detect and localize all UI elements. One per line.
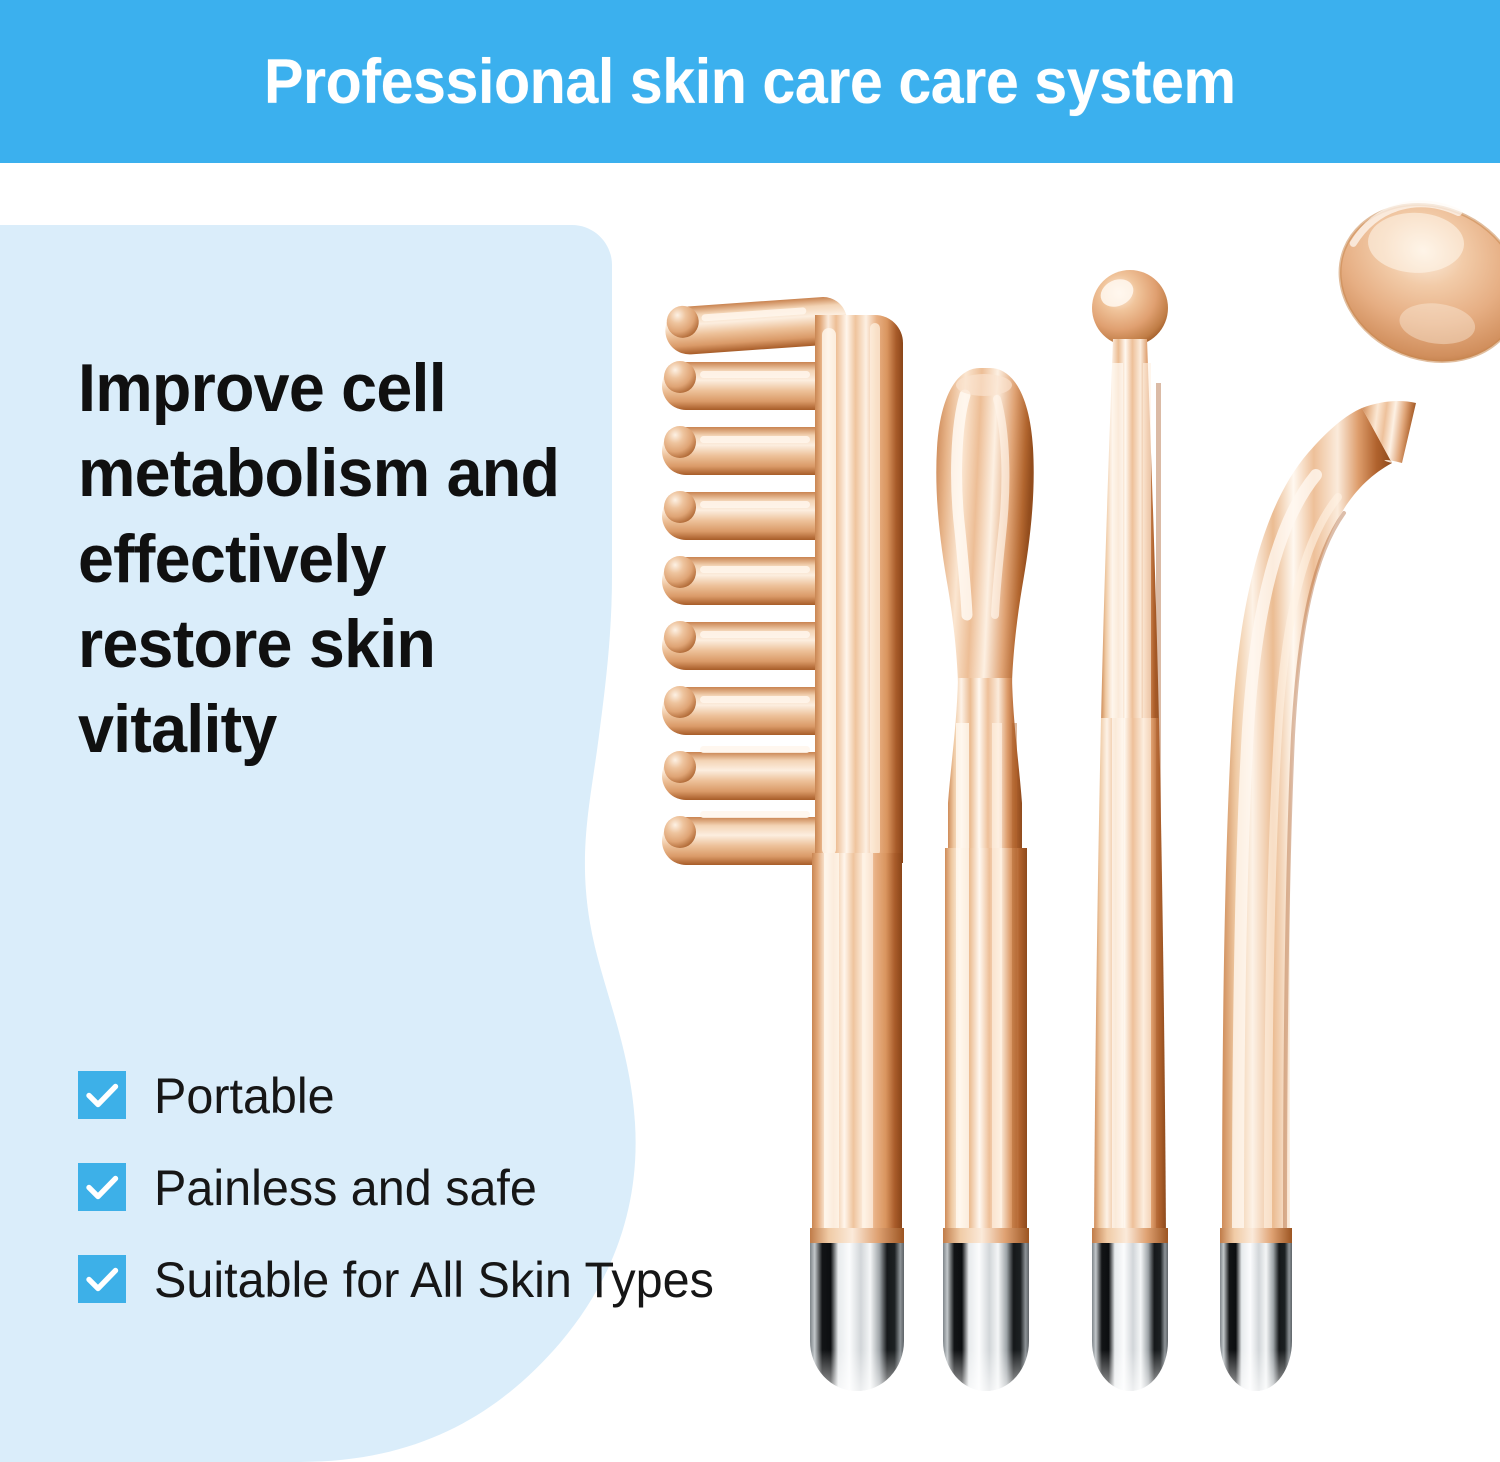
feature-item-painless-and-safe: Painless and safe	[78, 1163, 678, 1211]
ball-electrode	[1092, 270, 1168, 1391]
feature-label: Painless and safe	[154, 1163, 537, 1213]
tongue-electrode	[936, 368, 1033, 1391]
feature-label: Suitable for All Skin Types	[154, 1255, 714, 1305]
check-icon	[78, 1163, 126, 1211]
info-panel: Improve cell metabolism and effectively …	[0, 163, 760, 1462]
headline-text: Improve cell metabolism and effectively …	[78, 346, 572, 773]
product-image	[640, 163, 1500, 1462]
mushroom-electrode	[1220, 178, 1500, 1391]
feature-label: Portable	[154, 1071, 335, 1121]
header-banner: Professional skin care care system	[0, 0, 1500, 163]
check-icon	[78, 1071, 126, 1119]
feature-list: Portable Painless and safe Suitable for …	[78, 1071, 678, 1303]
page-title: Professional skin care care system	[264, 46, 1236, 118]
feature-item-suitable-for-all-skin-types: Suitable for All Skin Types	[78, 1255, 678, 1303]
feature-item-portable: Portable	[78, 1071, 678, 1119]
electrodes-illustration	[640, 163, 1500, 1462]
check-icon	[78, 1255, 126, 1303]
